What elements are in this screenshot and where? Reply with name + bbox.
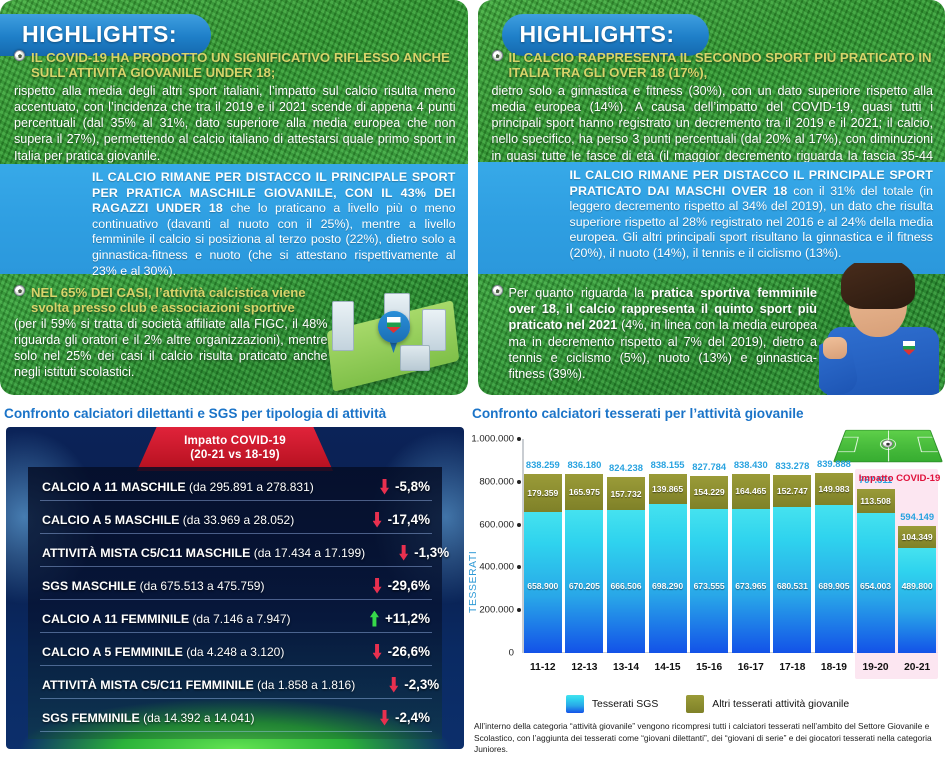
map-pin-figc-icon bbox=[378, 311, 412, 355]
y-tick-label: 600.000 bbox=[454, 519, 514, 530]
bar-segment-sgs-label: 489.800 bbox=[902, 581, 933, 591]
table-row-label: CALCIO A 5 MASCHILE (da 33.969 a 28.052) bbox=[42, 513, 294, 527]
table-row: CALCIO A 11 MASCHILE (da 295.891 a 278.8… bbox=[40, 475, 432, 501]
table-row-detail: (da 295.891 a 278.831) bbox=[189, 480, 314, 494]
right-bullet-1: IL CALCIO RAPPRESENTA IL SECONDO SPORT P… bbox=[492, 50, 934, 180]
table-row-percent: -5,8% bbox=[395, 479, 430, 494]
bar-segment-sgs: 658.900 bbox=[524, 512, 562, 653]
chart-title: Confronto calciatori tesserati per l’att… bbox=[470, 404, 945, 425]
right-blue-band: IL CALCIO RIMANE PER DISTACCO IL PRINCIP… bbox=[478, 162, 945, 274]
bar-segment-sgs: 680.531 bbox=[773, 507, 811, 653]
table-row: ATTIVITÀ MISTA C5/C11 FEMMINILE (da 1.85… bbox=[40, 673, 432, 699]
bar-segment-sgs: 670.205 bbox=[565, 510, 603, 653]
table-row-percent: -17,4% bbox=[388, 512, 430, 527]
chart-bar-column: 838.259179.359658.900 bbox=[522, 439, 564, 653]
x-tick-label: 16-17 bbox=[730, 662, 772, 673]
chart-bar-column: 767.511113.508654.003 bbox=[855, 439, 897, 653]
table-stadium-panel: Impatto COVID-19 (20-21 vs 18-19) CALCIO… bbox=[6, 427, 464, 749]
stacked-bar: 164.465673.965 bbox=[732, 474, 770, 653]
comparison-table-section: Confronto calciatori dilettanti e SGS pe… bbox=[0, 404, 470, 768]
bar-segment-sgs-label: 673.965 bbox=[735, 581, 766, 591]
building-1 bbox=[332, 301, 354, 351]
x-tick-label: 17-18 bbox=[772, 662, 814, 673]
left-bullet-2: NEL 65% DEI CASI, l’attività calcistica … bbox=[14, 285, 328, 381]
legend-item: Tesserati SGS bbox=[566, 695, 658, 713]
right-bullet-2: Per quanto riguarda la pratica sportiva … bbox=[492, 285, 818, 382]
bar-segment-other: 179.359 bbox=[524, 474, 562, 512]
right-bullet-1-lead: IL CALCIO RAPPRESENTA IL SECONDO SPORT P… bbox=[509, 50, 934, 81]
table-row-detail: (da 7.146 a 7.947) bbox=[192, 612, 290, 626]
table-row-name: CALCIO A 5 MASCHILE bbox=[42, 513, 179, 527]
table-row-percent: -26,6% bbox=[388, 644, 430, 659]
bar-total-label: 838.430 bbox=[734, 459, 768, 470]
trend-down-icon bbox=[380, 710, 389, 726]
bar-total-label: 838.259 bbox=[526, 459, 560, 470]
stacked-bar: 157.732666.506 bbox=[607, 477, 645, 653]
x-tick-label: 11-12 bbox=[522, 662, 564, 673]
bar-total-label: 824.238 bbox=[609, 462, 643, 473]
bar-total-label: 839.888 bbox=[817, 458, 851, 469]
table-row: CALCIO A 5 MASCHILE (da 33.969 a 28.052)… bbox=[40, 508, 432, 534]
legend-label: Altri tesserati attività giovanile bbox=[712, 699, 849, 710]
chart-bar-column: 827.784154.229673.555 bbox=[688, 439, 730, 653]
highlights-panel-left: HIGHLIGHTS: IL COVID-19 HA PRODOTTO UN S… bbox=[0, 0, 468, 395]
stacked-bar: 179.359658.900 bbox=[524, 474, 562, 653]
table-row-label: SGS MASCHILE (da 675.513 a 475.759) bbox=[42, 579, 264, 593]
table-row-percent: -2,3% bbox=[404, 677, 439, 692]
chart-bar-column: 594.149104.349489.800 bbox=[896, 439, 938, 653]
bar-segment-sgs-label: 698.290 bbox=[652, 581, 683, 591]
bar-total-label: 827.784 bbox=[692, 461, 726, 472]
table-row-detail: (da 1.858 a 1.816) bbox=[257, 678, 355, 692]
bar-segment-sgs: 673.965 bbox=[732, 509, 770, 653]
table-row: CALCIO A 5 FEMMINILE (da 4.248 a 3.120)-… bbox=[40, 640, 432, 666]
table-row-detail: (da 14.392 a 14.041) bbox=[143, 711, 254, 725]
trend-down-icon bbox=[399, 545, 408, 561]
bar-total-label: 836.180 bbox=[567, 459, 601, 470]
table-row-detail: (da 17.434 a 17.199) bbox=[254, 546, 365, 560]
stacked-bar: 165.975670.205 bbox=[565, 474, 603, 653]
legend-item: Altri tesserati attività giovanile bbox=[686, 695, 849, 713]
table-row-name: ATTIVITÀ MISTA C5/C11 MASCHILE bbox=[42, 546, 250, 560]
bar-segment-other: 139.865 bbox=[649, 474, 687, 504]
x-tick-label: 12-13 bbox=[564, 662, 606, 673]
y-tick-label: 0 bbox=[454, 648, 514, 659]
stacked-bar: 154.229673.555 bbox=[690, 476, 728, 653]
female-fist bbox=[823, 337, 847, 359]
y-axis-title: TESSERATI bbox=[468, 551, 479, 613]
y-tick-label: 1.000.000 bbox=[454, 434, 514, 445]
bar-segment-other-label: 113.508 bbox=[860, 496, 891, 506]
left-bullet-1-lead: IL COVID-19 HA PRODOTTO UN SIGNIFICATIVO… bbox=[31, 50, 456, 81]
table-row-name: CALCIO A 11 FEMMINILE bbox=[42, 612, 189, 626]
chart-covid-label: Impatto COVID-19 bbox=[859, 473, 941, 484]
table-row: SGS MASCHILE (da 675.513 a 475.759)-29,6… bbox=[40, 574, 432, 600]
table-row-value-group: -2,3% bbox=[355, 677, 439, 693]
covid-impact-ribbon: Impatto COVID-19 (20-21 vs 18-19) bbox=[137, 427, 333, 471]
table-row-name: ATTIVITÀ MISTA C5/C11 FEMMINILE bbox=[42, 678, 254, 692]
table-row-percent: -29,6% bbox=[388, 578, 430, 593]
x-tick-label: 19-20 bbox=[855, 662, 897, 673]
table-row-detail: (da 675.513 a 475.759) bbox=[140, 579, 265, 593]
table-row-value-group: -26,6% bbox=[346, 644, 430, 660]
ribbon-line-2: (20-21 vs 18-19) bbox=[137, 448, 333, 462]
y-tick-dot bbox=[517, 480, 521, 484]
y-tick-dot bbox=[517, 523, 521, 527]
table-row-label: CALCIO A 5 FEMMINILE (da 4.248 a 3.120) bbox=[42, 645, 284, 659]
city-illustration bbox=[326, 289, 460, 385]
chart-legend: Tesserati SGSAltri tesserati attività gi… bbox=[470, 695, 945, 713]
bar-segment-sgs-label: 673.555 bbox=[694, 581, 725, 591]
football-bullet-icon bbox=[492, 50, 503, 61]
bar-segment-sgs: 654.003 bbox=[857, 513, 895, 653]
bar-segment-other: 104.349 bbox=[898, 526, 936, 548]
bar-segment-sgs: 689.905 bbox=[815, 505, 853, 653]
chart-footnote: All’interno della categoria “attività gi… bbox=[474, 721, 941, 756]
bar-segment-other: 157.732 bbox=[607, 477, 645, 511]
right-bullet-2-pre: Per quanto riguarda la bbox=[509, 286, 652, 300]
table-row: SGS FEMMINILE (da 14.392 a 14.041)-2,4% bbox=[40, 706, 432, 732]
y-tick-label: 400.000 bbox=[454, 562, 514, 573]
bar-segment-sgs-label: 680.531 bbox=[777, 581, 808, 591]
bar-segment-sgs: 698.290 bbox=[649, 504, 687, 653]
stacked-bar: 113.508654.003 bbox=[857, 489, 895, 653]
table-row: ATTIVITÀ MISTA C5/C11 MASCHILE (da 17.43… bbox=[40, 541, 432, 567]
bar-segment-sgs-label: 654.003 bbox=[860, 581, 891, 591]
ribbon-line-1: Impatto COVID-19 bbox=[137, 434, 333, 448]
table-row-percent: +11,2% bbox=[385, 611, 430, 626]
table-row-value-group: +11,2% bbox=[346, 611, 430, 627]
table-row-label: CALCIO A 11 MASCHILE (da 295.891 a 278.8… bbox=[42, 480, 314, 494]
bar-segment-other: 165.975 bbox=[565, 474, 603, 510]
y-tick-dot bbox=[517, 608, 521, 612]
football-bullet-icon bbox=[14, 50, 25, 61]
left-blue-band: IL CALCIO RIMANE PER DISTACCO IL PRINCIP… bbox=[0, 164, 468, 274]
chart-bar-column: 833.278152.747680.531 bbox=[772, 439, 814, 653]
table-row-name: SGS MASCHILE bbox=[42, 579, 136, 593]
x-tick-label: 20-21 bbox=[896, 662, 938, 673]
table-row-value-group: -29,6% bbox=[346, 578, 430, 594]
bar-segment-sgs-label: 689.905 bbox=[818, 581, 849, 591]
bar-segment-other-label: 152.747 bbox=[777, 486, 808, 496]
bar-segment-sgs-label: 670.205 bbox=[569, 581, 600, 591]
chart-bar-column: 839.888149.983689.905 bbox=[813, 439, 855, 653]
legend-swatch bbox=[686, 695, 704, 713]
trend-down-icon bbox=[373, 578, 382, 594]
bar-segment-other-label: 149.983 bbox=[818, 484, 849, 494]
stacked-bar: 149.983689.905 bbox=[815, 473, 853, 653]
table-row-label: ATTIVITÀ MISTA C5/C11 FEMMINILE (da 1.85… bbox=[42, 678, 355, 692]
chart-bars: 838.259179.359658.900836.180165.975670.2… bbox=[522, 439, 938, 653]
stacked-bar-chart: TESSERATI 0200.000400.000600.000800.0001… bbox=[470, 425, 942, 693]
x-tick-label: 18-19 bbox=[813, 662, 855, 673]
table-row-detail: (da 33.969 a 28.052) bbox=[183, 513, 294, 527]
bar-segment-other: 113.508 bbox=[857, 489, 895, 513]
table-row-value-group: -2,4% bbox=[346, 710, 430, 726]
table-body: CALCIO A 11 MASCHILE (da 295.891 a 278.8… bbox=[28, 467, 442, 739]
bar-segment-other-label: 165.975 bbox=[569, 487, 600, 497]
table-row: CALCIO A 11 FEMMINILE (da 7.146 a 7.947)… bbox=[40, 607, 432, 633]
bar-segment-other: 164.465 bbox=[732, 474, 770, 509]
bar-segment-other-label: 104.349 bbox=[902, 532, 933, 542]
x-tick-label: 13-14 bbox=[605, 662, 647, 673]
bar-segment-other-label: 157.732 bbox=[610, 489, 641, 499]
table-row-value-group: -1,3% bbox=[365, 545, 449, 561]
trend-up-icon bbox=[370, 611, 379, 627]
football-bullet-icon bbox=[14, 285, 25, 296]
chart-plot-area: 838.259179.359658.900836.180165.975670.2… bbox=[522, 439, 938, 653]
y-tick-label: 200.000 bbox=[454, 605, 514, 616]
left-bullet-2-body: (per il 59% si tratta di società affilia… bbox=[14, 316, 328, 381]
bar-segment-sgs: 673.555 bbox=[690, 509, 728, 653]
highlights-panel-right: HIGHLIGHTS: IL CALCIO RAPPRESENTA IL SEC… bbox=[478, 0, 945, 395]
chart-bar-column: 836.180165.975670.205 bbox=[564, 439, 606, 653]
y-tick-dot bbox=[517, 565, 521, 569]
left-band-text: IL CALCIO RIMANE PER DISTACCO IL PRINCIP… bbox=[92, 164, 468, 285]
trend-down-icon bbox=[373, 644, 382, 660]
table-row-name: CALCIO A 11 MASCHILE bbox=[42, 480, 186, 494]
table-row-value-group: -5,8% bbox=[346, 479, 430, 495]
y-tick-label: 800.000 bbox=[454, 476, 514, 487]
table-row-name: SGS FEMMINILE bbox=[42, 711, 140, 725]
chart-bar-column: 824.238157.732666.506 bbox=[605, 439, 647, 653]
stacked-bar: 104.349489.800 bbox=[898, 526, 936, 653]
trend-down-icon bbox=[389, 677, 398, 693]
bar-segment-sgs-label: 666.506 bbox=[610, 581, 641, 591]
table-row-value-group: -17,4% bbox=[346, 512, 430, 528]
table-title: Confronto calciatori dilettanti e SGS pe… bbox=[0, 404, 470, 427]
youth-chart-section: Confronto calciatori tesserati per l’att… bbox=[470, 404, 945, 768]
bar-segment-other-label: 139.865 bbox=[652, 484, 683, 494]
bar-segment-sgs: 666.506 bbox=[607, 510, 645, 653]
bar-segment-other: 152.747 bbox=[773, 475, 811, 508]
table-row-label: SGS FEMMINILE (da 14.392 a 14.041) bbox=[42, 711, 255, 725]
y-tick-dot bbox=[517, 437, 521, 441]
bar-segment-other: 154.229 bbox=[690, 476, 728, 509]
bar-segment-other-label: 164.465 bbox=[735, 486, 766, 496]
bar-total-label: 594.149 bbox=[900, 511, 934, 522]
trend-down-icon bbox=[373, 512, 382, 528]
stacked-bar: 139.865698.290 bbox=[649, 474, 687, 653]
football-bullet-icon bbox=[492, 285, 503, 296]
table-row-percent: -2,4% bbox=[395, 710, 430, 725]
stacked-bar: 152.747680.531 bbox=[773, 475, 811, 653]
left-bullet-2-lead: NEL 65% DEI CASI, l’attività calcistica … bbox=[31, 285, 328, 316]
table-row-label: CALCIO A 11 FEMMINILE (da 7.146 a 7.947) bbox=[42, 612, 291, 626]
x-tick-label: 15-16 bbox=[688, 662, 730, 673]
table-row-detail: (da 4.248 a 3.120) bbox=[186, 645, 284, 659]
left-bullet-1: IL COVID-19 HA PRODOTTO UN SIGNIFICATIVO… bbox=[14, 50, 456, 164]
bar-total-label: 838.155 bbox=[651, 459, 685, 470]
bar-segment-other-label: 154.229 bbox=[694, 487, 725, 497]
table-row-label: ATTIVITÀ MISTA C5/C11 MASCHILE (da 17.43… bbox=[42, 546, 365, 560]
x-axis-labels: 11-1212-1313-1414-1515-1616-1717-1818-19… bbox=[522, 662, 938, 673]
legend-label: Tesserati SGS bbox=[592, 699, 658, 710]
trend-down-icon bbox=[380, 479, 389, 495]
legend-swatch bbox=[566, 695, 584, 713]
chart-bar-column: 838.155139.865698.290 bbox=[647, 439, 689, 653]
female-hair bbox=[841, 263, 915, 309]
left-bullet-1-body: rispetto alla media degli altri sport it… bbox=[14, 83, 456, 164]
bar-segment-sgs: 489.800 bbox=[898, 548, 936, 653]
bar-total-label: 833.278 bbox=[775, 460, 809, 471]
table-row-percent: -1,3% bbox=[414, 545, 449, 560]
highlights-panels: HIGHLIGHTS: IL COVID-19 HA PRODOTTO UN S… bbox=[0, 0, 945, 400]
table-row-name: CALCIO A 5 FEMMINILE bbox=[42, 645, 183, 659]
chart-bar-column: 838.430164.465673.965 bbox=[730, 439, 772, 653]
bar-segment-other: 149.983 bbox=[815, 473, 853, 505]
female-player-photo bbox=[819, 263, 945, 395]
bar-segment-sgs-label: 658.900 bbox=[527, 581, 558, 591]
x-tick-label: 14-15 bbox=[647, 662, 689, 673]
bar-segment-other-label: 179.359 bbox=[527, 488, 558, 498]
right-band-text: IL CALCIO RIMANE PER DISTACCO IL PRINCIP… bbox=[570, 162, 945, 268]
